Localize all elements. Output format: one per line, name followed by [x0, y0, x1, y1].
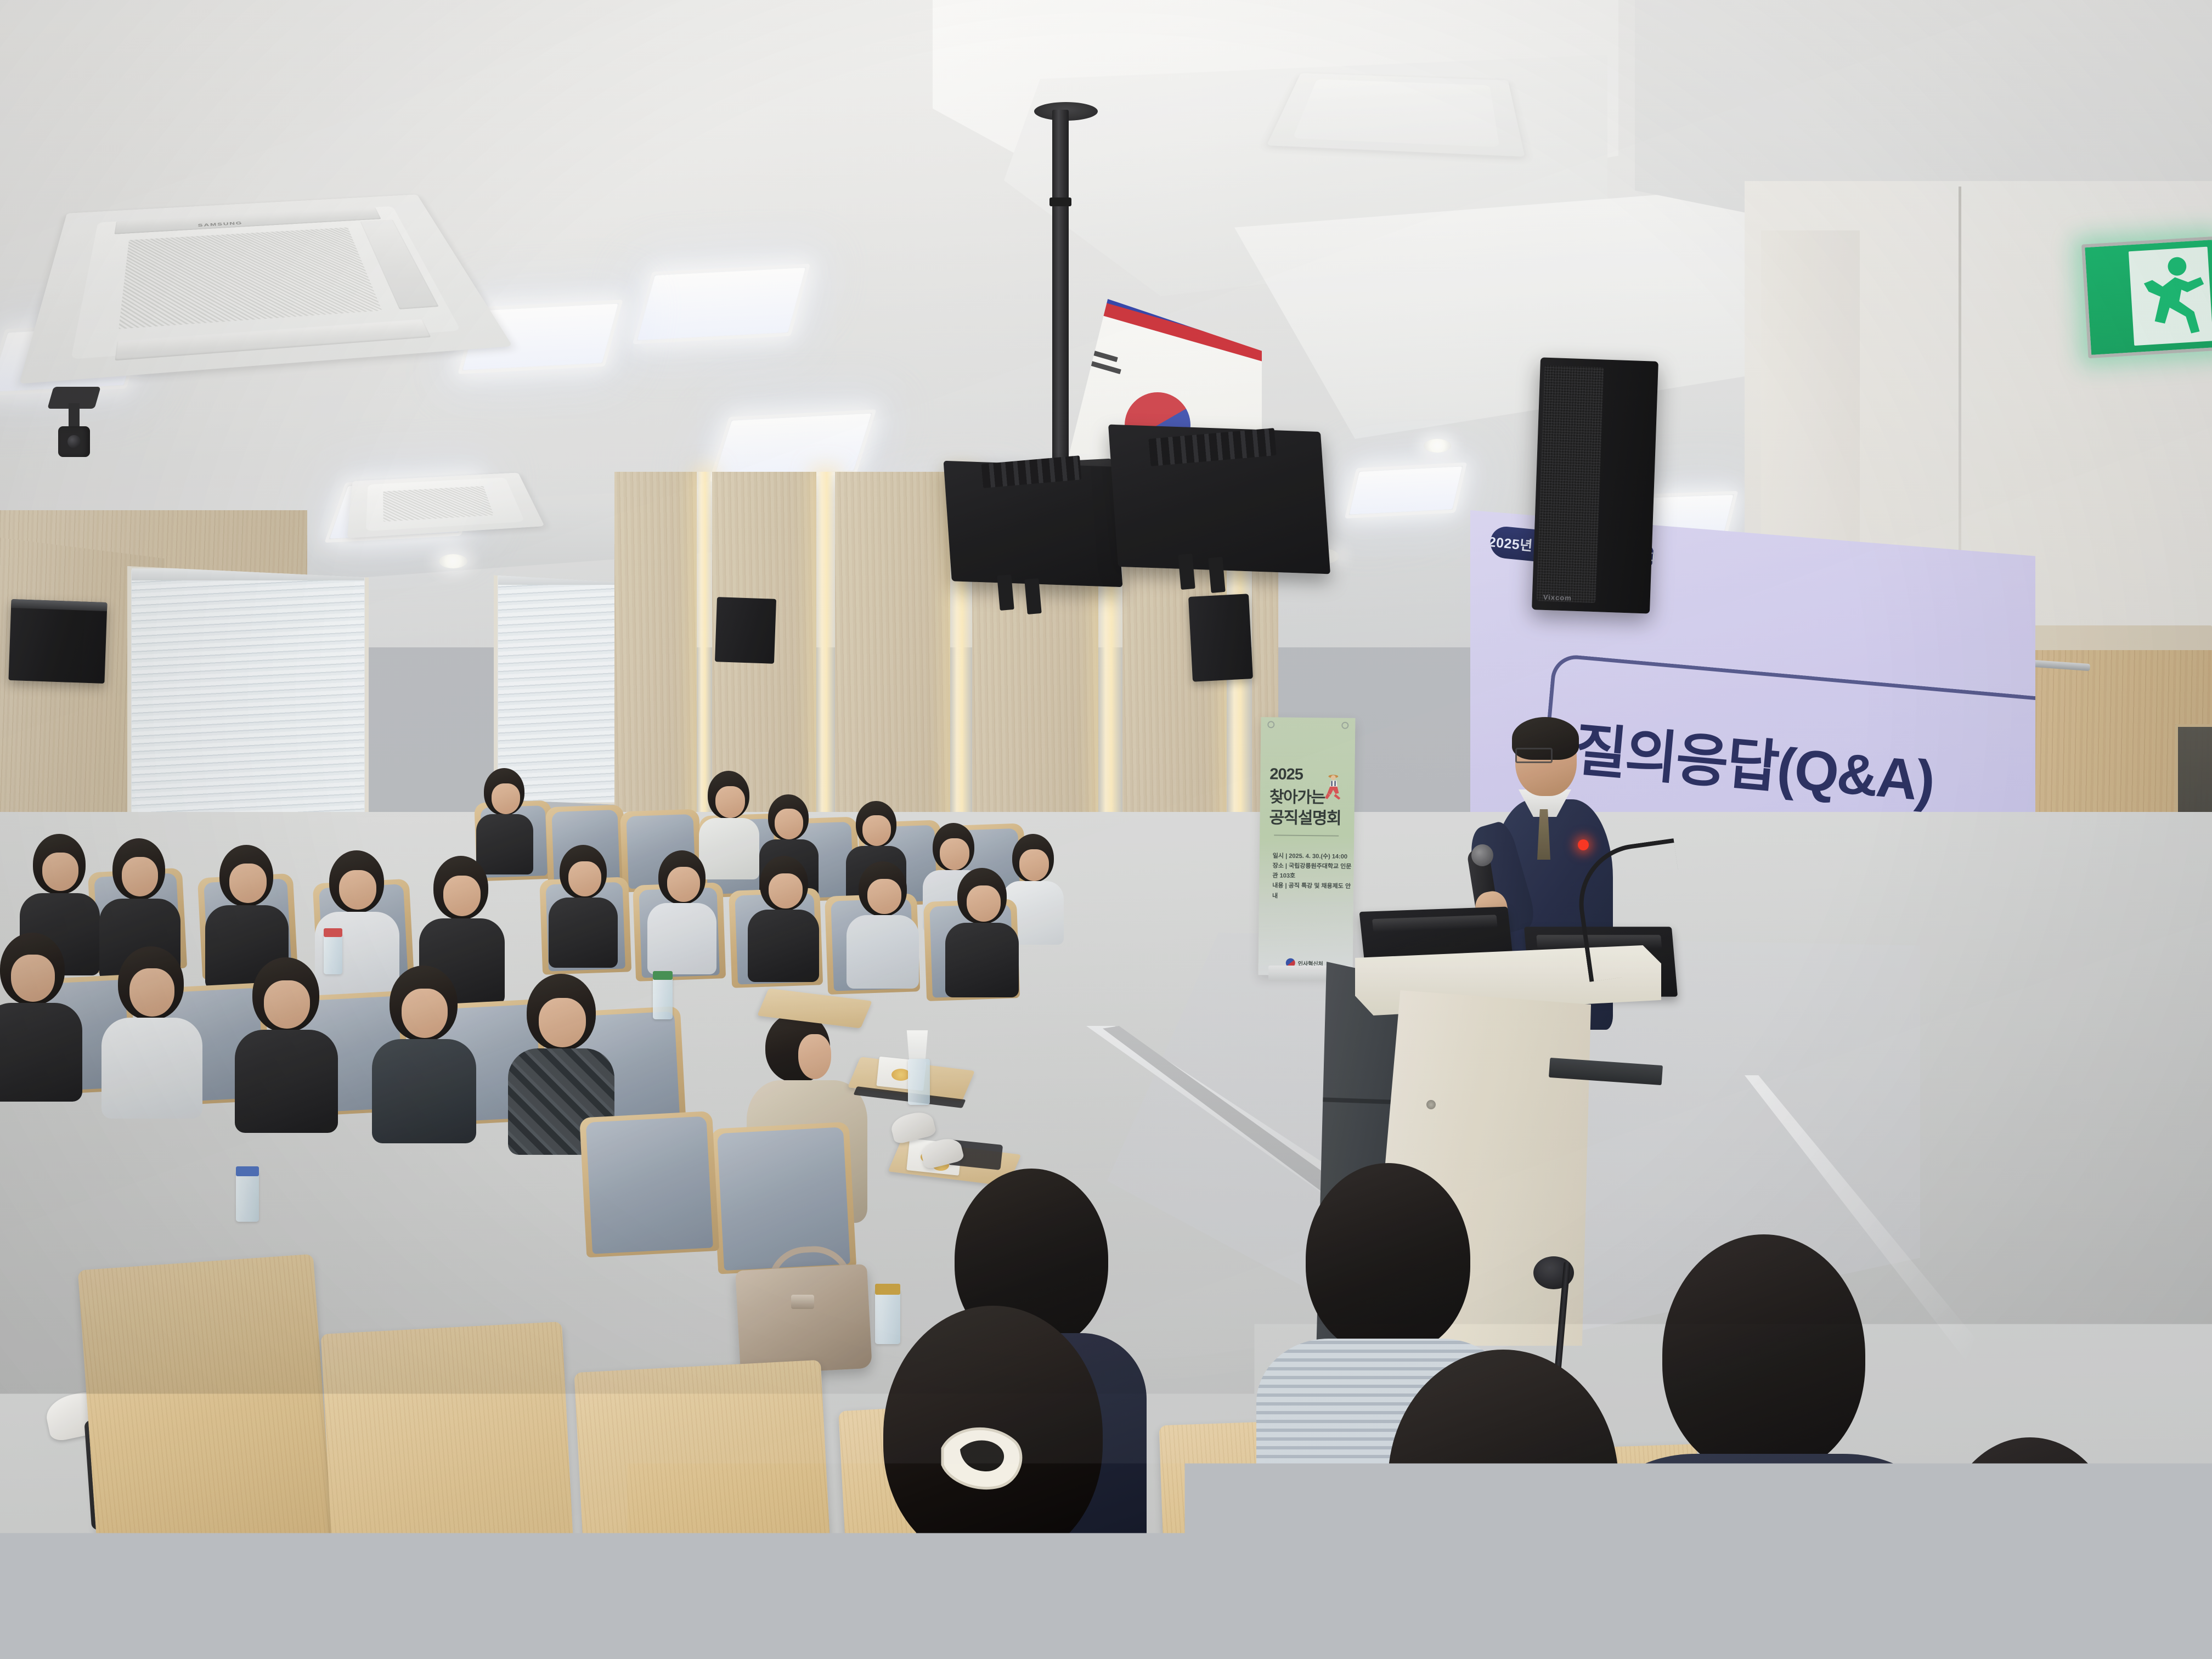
banner-line-2: 공직설명회	[1269, 804, 1341, 828]
wall-speaker	[715, 597, 776, 664]
bottle-cap	[324, 928, 342, 937]
person-face	[122, 857, 158, 896]
person-torso	[101, 1018, 202, 1119]
person-face	[568, 861, 601, 896]
person-torso	[372, 1039, 476, 1143]
auditorium-seat[interactable]	[717, 1127, 850, 1271]
banner-grommet	[1267, 721, 1274, 728]
banner-meta-datetime: 일시 | 2025. 4. 30.(수) 14:00	[1273, 851, 1353, 862]
person-head	[1942, 1437, 2118, 1646]
monitor-mount-foot	[997, 574, 1014, 611]
person-face	[42, 853, 78, 891]
running-man-exit-icon	[2136, 251, 2212, 343]
seat-backrest	[717, 1127, 850, 1271]
person-face	[940, 838, 969, 870]
ceiling-downlight	[1424, 439, 1451, 453]
person-face	[798, 1034, 831, 1079]
monitor-rig-pole	[1052, 110, 1069, 469]
person-face	[967, 885, 1001, 922]
bottle-cap	[875, 1284, 900, 1295]
hair-claw-clip	[933, 1415, 1037, 1503]
water-bottle	[236, 1171, 259, 1222]
person-face	[862, 815, 891, 846]
person-torso	[847, 915, 919, 989]
banner-grommet	[1341, 722, 1348, 729]
monitor-mount-foot	[1178, 554, 1195, 590]
auditorium-seat[interactable]	[586, 1116, 713, 1254]
snack-detail	[891, 1069, 910, 1081]
bottle-cap	[653, 971, 673, 980]
banner-meta-venue: 장소 | 국립강릉원주대학교 인문관 103호	[1272, 861, 1352, 882]
seat-backrest	[586, 1116, 713, 1254]
ceiling-downlight	[439, 554, 467, 568]
ac-inner-panel	[1293, 79, 1500, 148]
person-torso	[549, 898, 618, 968]
person-face	[264, 980, 310, 1029]
monitor-mount-foot	[1024, 578, 1041, 614]
person-torso	[699, 818, 759, 879]
person-face	[775, 809, 803, 839]
banner-meta-content: 내용 | 공직 특강 및 채용제도 안내	[1272, 881, 1352, 902]
monitor-glare	[1372, 915, 1498, 933]
camera-lens-icon	[67, 435, 81, 448]
lectern-fastener	[1426, 1100, 1436, 1109]
running-person-illustration-icon	[1321, 772, 1346, 801]
microphone-status-led	[1578, 839, 1589, 850]
banner-year: 2025	[1269, 765, 1303, 784]
person-face	[492, 783, 520, 814]
person-head	[1388, 1350, 1618, 1613]
presenter-glasses	[1515, 748, 1553, 763]
exit-sign	[2081, 236, 2212, 359]
banner-meta-block: 일시 | 2025. 4. 30.(수) 14:00 장소 | 국립강릉원주대학…	[1272, 851, 1353, 901]
water-bottle	[908, 1059, 930, 1105]
person-face	[11, 955, 55, 1002]
person-torso	[235, 1030, 338, 1133]
wall-speaker	[1188, 594, 1253, 682]
pa-speaker-brand-label: Vixcom	[1543, 593, 1572, 602]
person-torso	[476, 814, 533, 874]
pa-speaker-grille	[1537, 365, 1604, 603]
person-torso	[1602, 1454, 1937, 1659]
person-face	[402, 989, 448, 1038]
person-face	[443, 876, 481, 916]
auditorium-seat-foreground[interactable]	[78, 1254, 334, 1566]
window-blinds[interactable]	[132, 571, 364, 847]
monitor-mount-foot	[1208, 557, 1225, 593]
person-face	[867, 879, 901, 914]
handbag-clasp	[791, 1295, 814, 1309]
person-face	[129, 968, 174, 1017]
ceiling-light-panel	[1350, 466, 1463, 515]
lecture-hall-photo: SAMSUNG	[0, 0, 2212, 1659]
banner-divider	[1274, 834, 1339, 836]
ceiling-air-conditioner	[1267, 73, 1525, 157]
person-face	[769, 873, 803, 909]
auditorium-seat-foreground[interactable]	[321, 1322, 579, 1659]
person-face	[715, 786, 745, 818]
person-torso	[0, 1003, 82, 1102]
person-face	[339, 870, 376, 910]
person-head	[1662, 1234, 1865, 1476]
person-face	[667, 867, 700, 902]
ceiling-light-panel	[637, 268, 805, 340]
person-torso	[748, 910, 819, 982]
person-torso	[647, 903, 716, 974]
person-face	[539, 998, 586, 1047]
person-face	[229, 864, 267, 903]
water-bottle	[324, 933, 342, 974]
person-head	[1306, 1163, 1470, 1355]
person-torso	[945, 923, 1019, 997]
handbag	[735, 1264, 872, 1375]
pa-speaker-main: Vixcom	[1532, 357, 1658, 613]
water-bottle	[875, 1289, 900, 1344]
water-bottle	[653, 975, 673, 1019]
window	[127, 566, 369, 851]
bottle-cap	[236, 1166, 259, 1176]
wall-speaker	[8, 599, 107, 684]
person-face	[1019, 849, 1049, 881]
monitor-rig-pole-joint	[1049, 198, 1071, 206]
ceiling-light-panel	[714, 414, 872, 478]
